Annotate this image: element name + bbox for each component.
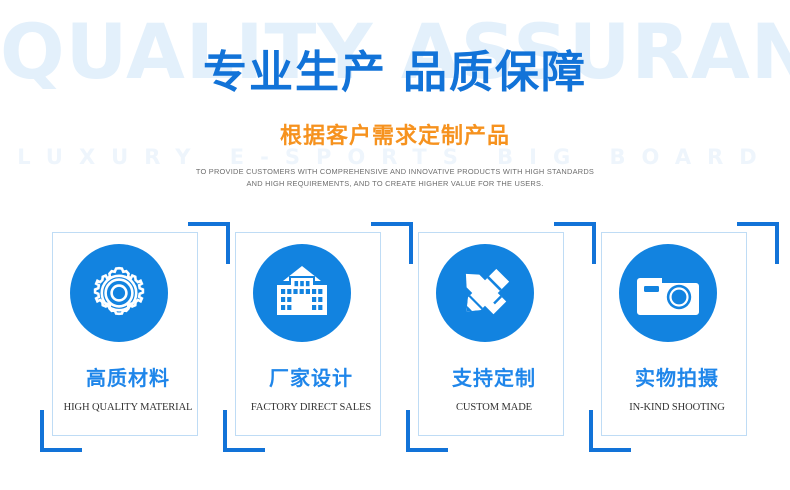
corner-bracket-top-right (737, 222, 779, 264)
feature-card-in-kind-shooting[interactable]: 实物拍摄 IN-KIND SHOOTING (589, 222, 779, 462)
card-title: 支持定制 (406, 362, 582, 391)
camera-icon (619, 244, 717, 342)
gear-icon (70, 244, 168, 342)
card-subtitle: IN-KIND SHOOTING (589, 402, 765, 413)
page-title-part2: 品质保障 (403, 47, 587, 98)
corner-bracket-bottom-left (40, 410, 82, 452)
factory-icon (253, 244, 351, 342)
promo-banner: QUALITY ASSURANCE LUXURY E-SPORTS BIG BO… (0, 0, 790, 490)
pencil-ruler-icon (436, 244, 534, 342)
card-title: 实物拍摄 (589, 362, 765, 391)
corner-bracket-bottom-left (406, 410, 448, 452)
corner-bracket-bottom-left (589, 410, 631, 452)
page-title: 专业生产品质保障 (0, 50, 790, 96)
card-title: 高质材料 (40, 362, 216, 391)
feature-card-factory-direct-sales[interactable]: 厂家设计 FACTORY DIRECT SALES (223, 222, 413, 462)
feature-card-list: 高质材料 HIGH QUALITY MATERIAL (0, 222, 790, 462)
card-subtitle: CUSTOM MADE (406, 402, 582, 413)
page-subtitle: 根据客户需求定制产品 (0, 118, 790, 150)
card-subtitle: HIGH QUALITY MATERIAL (40, 402, 216, 413)
card-subtitle: FACTORY DIRECT SALES (223, 402, 399, 413)
feature-card-high-quality-material[interactable]: 高质材料 HIGH QUALITY MATERIAL (40, 222, 230, 462)
page-description: TO PROVIDE CUSTOMERS WITH COMPREHENSIVE … (195, 166, 595, 190)
corner-bracket-bottom-left (223, 410, 265, 452)
feature-card-custom-made[interactable]: 支持定制 CUSTOM MADE (406, 222, 596, 462)
page-title-part1: 专业生产 (203, 47, 387, 98)
card-title: 厂家设计 (223, 362, 399, 391)
